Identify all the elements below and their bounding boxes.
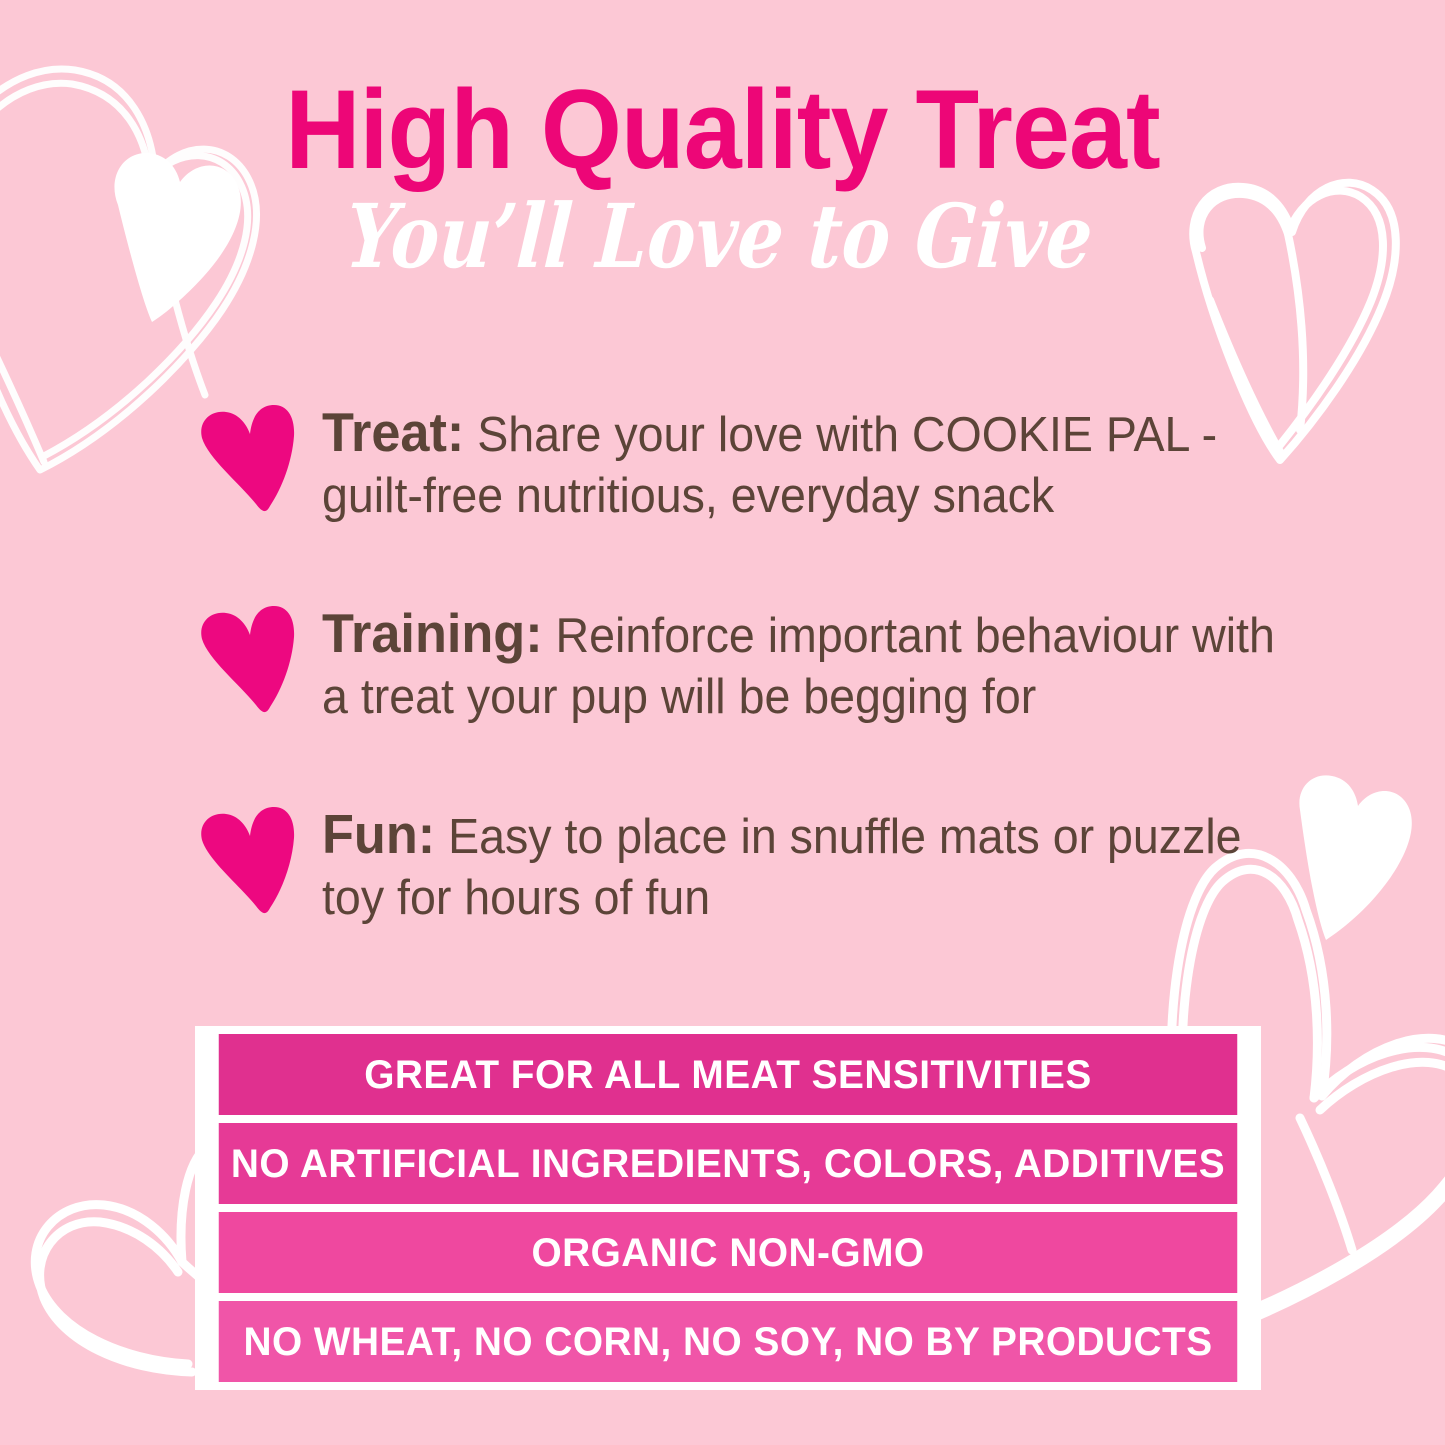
benefit-lead: Training: [322,602,543,664]
heart-icon [196,603,300,715]
claim-row: NO ARTIFICIAL INGREDIENTS, COLORS, ADDIT… [219,1123,1238,1204]
benefit-text: Training: Reinforce important behaviour … [322,599,1276,728]
promo-poster: High Quality Treat You’ll Love to Give T… [0,0,1445,1445]
benefit-item-treat: Treat: Share your love with COOKIE PAL -… [196,398,1326,527]
benefit-item-fun: Fun: Easy to place in snuffle mats or pu… [196,800,1326,929]
claims-banner: GREAT FOR ALL MEAT SENSITIVITIES NO ARTI… [195,1026,1261,1390]
benefit-text: Fun: Easy to place in snuffle mats or pu… [322,800,1276,929]
benefit-text: Treat: Share your love with COOKIE PAL -… [322,398,1276,527]
claim-row: NO WHEAT, NO CORN, NO SOY, NO BY PRODUCT… [219,1301,1238,1382]
benefit-lead: Fun: [322,803,435,865]
benefit-item-training: Training: Reinforce important behaviour … [196,599,1326,728]
heart-icon [196,804,300,916]
benefits-list: Treat: Share your love with COOKIE PAL -… [196,398,1326,929]
claim-row: GREAT FOR ALL MEAT SENSITIVITIES [219,1034,1238,1115]
benefit-body: Easy to place in snuffle mats or puzzle … [322,810,1242,925]
page-subtitle: You’ll Love to Give [124,192,1315,280]
claim-row: ORGANIC NON-GMO [219,1212,1238,1293]
heart-icon [196,402,300,514]
page-title: High Quality Treat [51,74,1395,186]
header-block: High Quality Treat You’ll Love to Give [0,74,1445,280]
benefit-lead: Treat: [322,401,464,463]
